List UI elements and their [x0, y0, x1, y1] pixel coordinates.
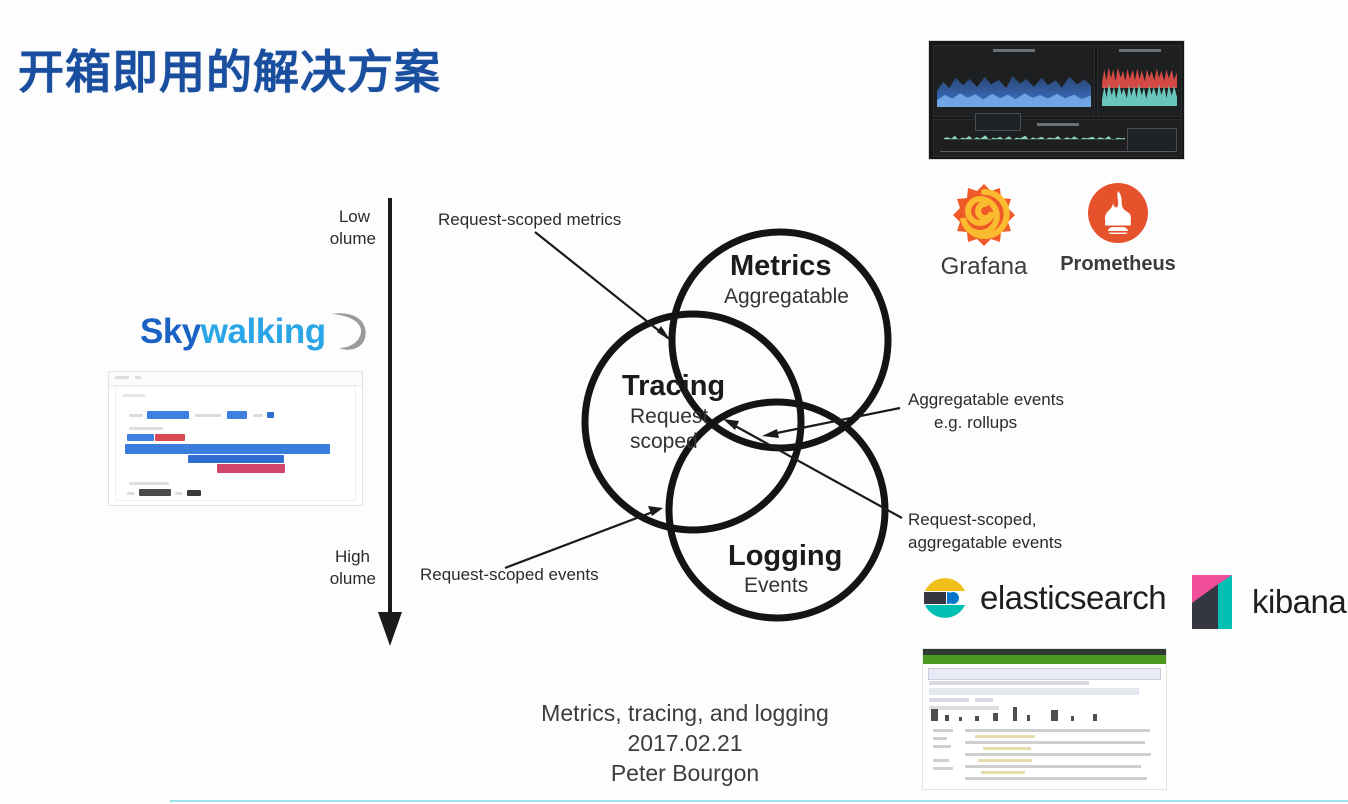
bottom-rule [170, 800, 1348, 802]
axis-label-high-volume-line1: High [335, 547, 370, 566]
venn-subtitle-tracing-2: scoped [630, 430, 698, 453]
prometheus-label: Prometheus [1048, 253, 1188, 276]
callout-request-scoped-metrics-text: Request-scoped metrics [438, 210, 621, 229]
kibana-icon [1188, 573, 1236, 631]
venn-title-logging: Logging [728, 540, 842, 572]
skywalking-logo: Skywalking [140, 312, 326, 352]
callout-request-scoped-events-text: Request-scoped events [420, 565, 599, 584]
elasticsearch-icon [922, 575, 968, 621]
callout-aggregatable-events-line2: e.g. rollups [934, 413, 1017, 432]
grafana-dashboard-screenshot [928, 40, 1185, 160]
prometheus-logo: Prometheus [1048, 182, 1188, 276]
callout-aggregatable-events: Aggregatable events e.g. rollups [762, 390, 1064, 438]
axis-label-low-volume-line2: volume [330, 229, 376, 248]
axis-label-high-volume-line2: volume [330, 569, 376, 588]
elasticsearch-label: elasticsearch [980, 579, 1166, 617]
elasticsearch-logo: elasticsearch [922, 575, 1166, 621]
callout-request-scoped-aggregatable-events: Request-scoped, aggregatable events [723, 419, 1062, 552]
prometheus-icon [1087, 182, 1149, 244]
skywalking-logo-walking: walking [201, 312, 326, 351]
skywalking-swoosh-icon [325, 308, 371, 352]
caption-line-title: Metrics, tracing, and logging [470, 698, 900, 728]
grafana-logo: Grafana [930, 182, 1038, 281]
venn-title-tracing: Tracing [622, 370, 725, 402]
caption-block: Metrics, tracing, and logging 2017.02.21… [470, 698, 900, 788]
callout-request-scoped-aggregatable-line1: Request-scoped, [908, 510, 1037, 529]
skywalking-trace-screenshot [108, 371, 363, 506]
callout-request-scoped-events: Request-scoped events [420, 506, 663, 584]
venn-subtitle-tracing-1: Request [630, 405, 708, 428]
grafana-icon [951, 182, 1017, 246]
caption-line-date: 2017.02.21 [470, 728, 900, 758]
kibana-logo: kibana [1188, 573, 1346, 631]
slide-canvas: 开箱即用的解决方案 Low volume High volume Tracing… [0, 0, 1348, 804]
callout-aggregatable-events-line1: Aggregatable events [908, 390, 1064, 409]
axis-label-low-volume-line1: Low [339, 207, 371, 226]
venn-title-metrics: Metrics [730, 250, 832, 282]
kibana-label: kibana [1252, 583, 1346, 621]
skywalking-logo-sky: Sky [140, 312, 201, 351]
caption-line-author: Peter Bourgon [470, 758, 900, 788]
venn-subtitle-metrics-1: Aggregatable [724, 285, 849, 308]
venn-subtitle-logging-events: Events [744, 574, 808, 597]
callout-request-scoped-aggregatable-line2: aggregatable events [908, 533, 1062, 552]
grafana-label: Grafana [930, 253, 1038, 281]
page-title: 开箱即用的解决方案 [18, 36, 441, 102]
volume-axis [378, 198, 402, 646]
callout-request-scoped-metrics: Request-scoped metrics [438, 210, 671, 341]
kibana-discover-screenshot [922, 648, 1167, 790]
